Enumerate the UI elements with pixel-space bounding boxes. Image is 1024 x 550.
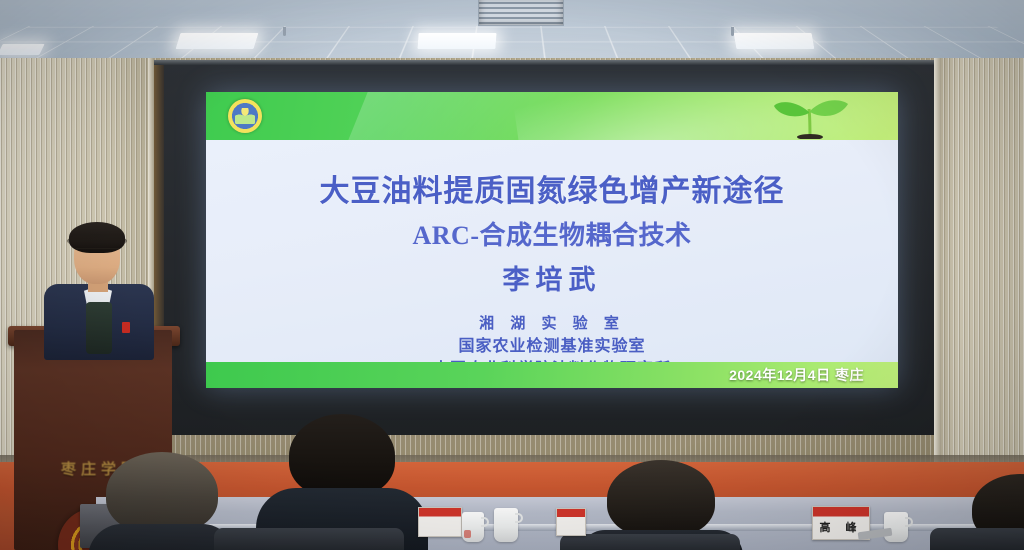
slide-footer-date: 2024年12月4日 枣庄 (729, 365, 864, 385)
air-conditioning-vent (478, 0, 564, 26)
audience-head (607, 460, 715, 538)
fire-sprinkler (283, 27, 286, 36)
slide-footer-banner: 2024年12月4日 枣庄 (206, 362, 898, 388)
audience-head (106, 452, 218, 534)
audience-member-left (96, 452, 228, 550)
recessed-light-panel (176, 33, 259, 49)
affiliation-line-2: 国家农业检测基准实验室 (206, 335, 898, 358)
affiliation-line-1: 湘 湖 实 验 室 (206, 313, 898, 335)
slide-body: 大豆油料提质固氮绿色增产新途径 ARC-合成生物耦合技术 李培武 湘 湖 实 验… (206, 140, 898, 362)
tea-cup (494, 508, 518, 542)
tea-cup (462, 512, 484, 542)
presenter-at-podium (40, 222, 156, 358)
table-nameplate (418, 507, 462, 537)
slide-speaker-name: 李培武 (206, 258, 898, 297)
tea-cup (884, 512, 908, 542)
recessed-light-panel (734, 33, 815, 49)
projected-slide: 大豆油料提质固氮绿色增产新途径 ARC-合成生物耦合技术 李培武 湘 湖 实 验… (206, 92, 898, 388)
right-wall-panel (938, 58, 1024, 490)
green-sprout-graphic (764, 95, 856, 139)
presenter-glasses (76, 248, 119, 257)
conference-chair-back (930, 528, 1024, 550)
fire-sprinkler (731, 27, 734, 36)
conference-chair-back (560, 534, 740, 550)
presenter-lapel-badge (122, 322, 130, 333)
slide-title-sub: ARC-合成生物耦合技术 (206, 215, 898, 252)
presenter-sweater (86, 302, 112, 354)
agriculture-ministry-emblem (228, 99, 262, 133)
slide-title-main: 大豆油料提质固氮绿色增产新途径 (206, 166, 898, 210)
recessed-light-panel (417, 33, 496, 49)
recessed-light-panel (0, 44, 45, 55)
conference-chair-back (214, 528, 404, 550)
header-gloss-secondary (338, 92, 674, 140)
emblem-leaf-motif (235, 108, 255, 124)
audience-head (289, 414, 395, 498)
conference-room-photo: 大豆油料提质固氮绿色增产新途径 ARC-合成生物耦合技术 李培武 湘 湖 实 验… (0, 0, 1024, 550)
slide-header-banner (206, 92, 898, 140)
screen-frame-top-edge (152, 60, 938, 65)
right-wall-slat-texture (938, 58, 1024, 490)
right-pillar-edge (934, 58, 941, 490)
tea-cup-decoration (464, 530, 471, 538)
table-nameplate (556, 508, 586, 536)
